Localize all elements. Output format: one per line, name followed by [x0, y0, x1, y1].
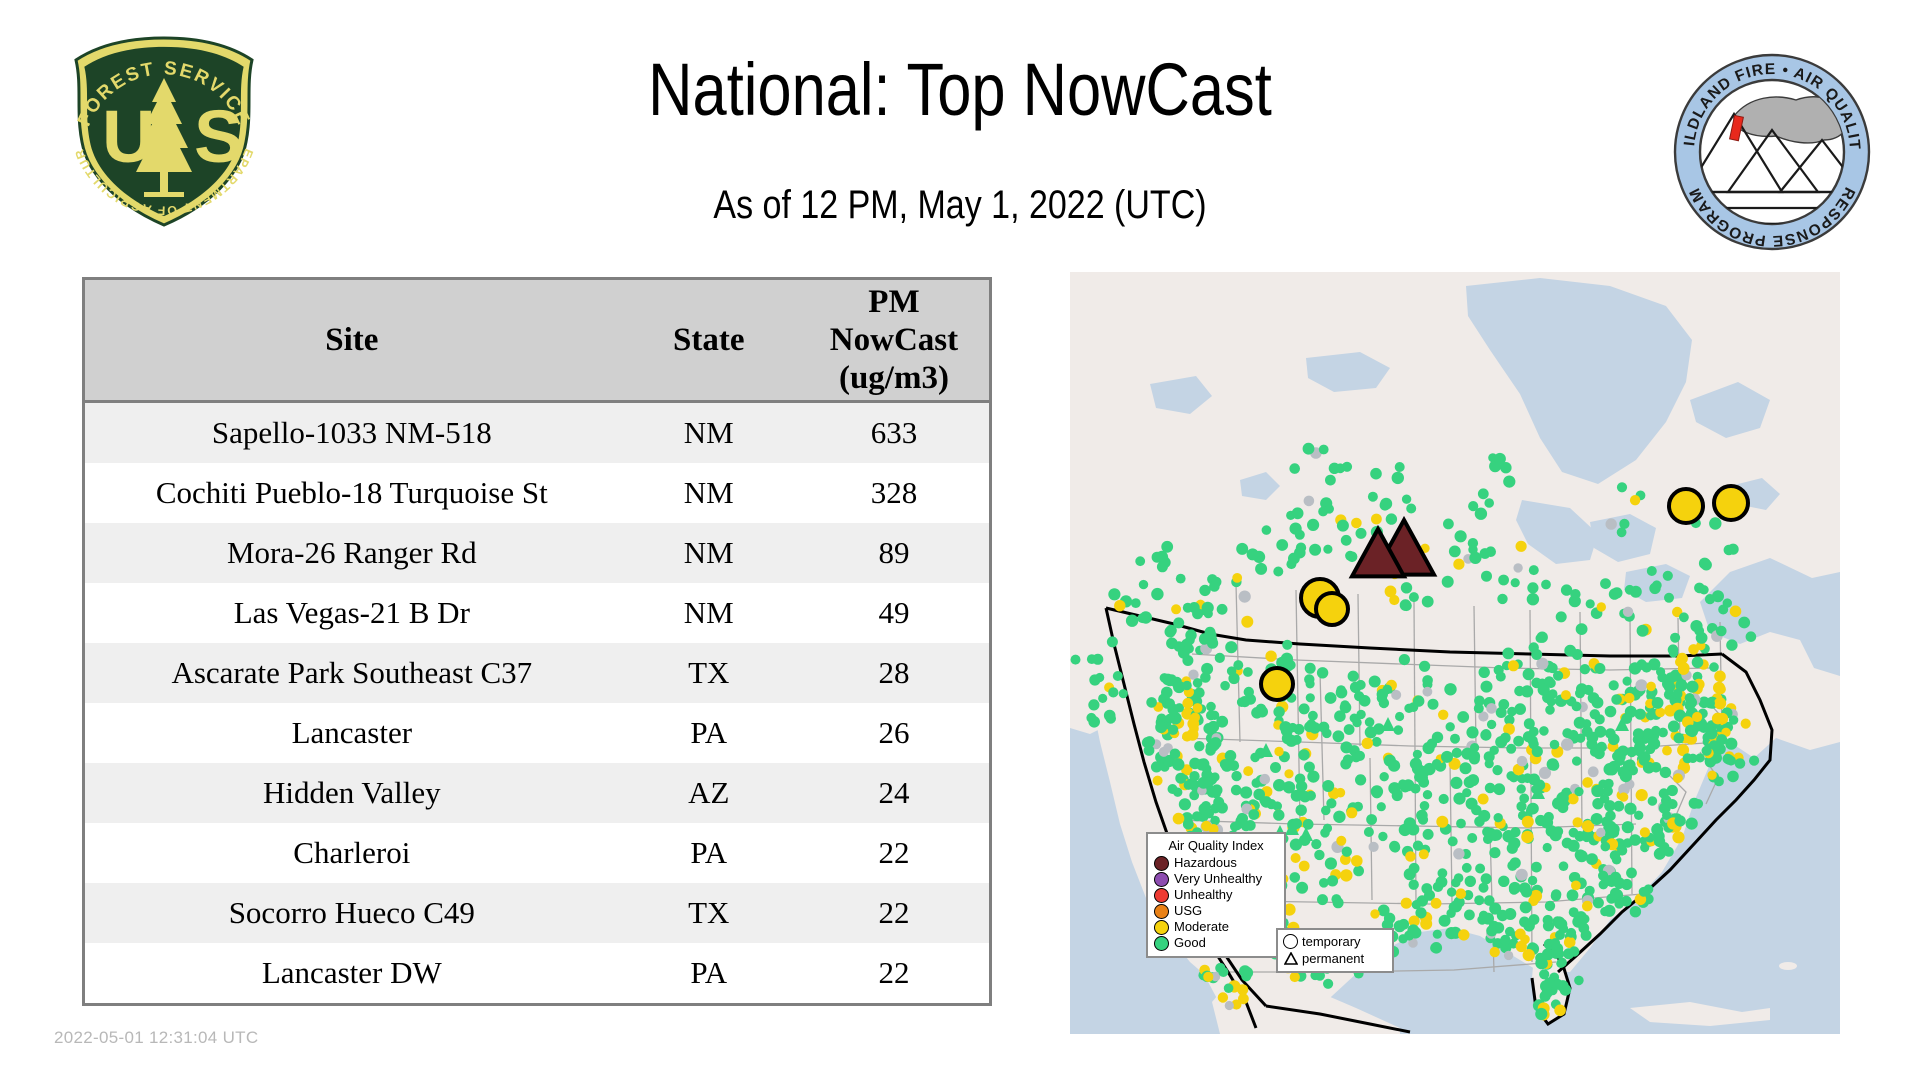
monitor-dot	[1647, 566, 1657, 576]
monitor-dot	[1582, 833, 1591, 842]
monitor-dot	[1325, 504, 1334, 513]
monitor-dot	[1356, 680, 1366, 690]
monitor-dot	[1498, 876, 1509, 887]
monitor-dot	[1619, 792, 1628, 801]
monitor-dot	[1462, 863, 1472, 873]
monitor-dot	[1591, 813, 1603, 825]
monitor-dot	[1478, 488, 1489, 499]
monitor-dot	[1371, 514, 1382, 525]
monitor-dot	[1604, 779, 1614, 789]
monitor-dot	[1554, 1005, 1566, 1017]
monitor-dot	[1333, 897, 1344, 908]
monitor-dot	[1356, 528, 1367, 539]
monitor-dot	[1453, 848, 1464, 859]
table-header-row: Site State PM NowCast (ug/m3)	[84, 279, 991, 402]
monitor-dot	[1438, 710, 1448, 720]
monitor-dot	[1423, 829, 1434, 840]
monitor-dot	[1516, 541, 1527, 552]
monitor-dot	[1325, 857, 1337, 869]
monitor-dot	[1423, 790, 1432, 799]
monitor-dot	[1523, 668, 1535, 680]
monitor-dot	[1372, 737, 1382, 747]
monitor-dot	[1513, 736, 1524, 747]
monitor-dot	[1482, 913, 1494, 925]
monitor-dot	[1595, 726, 1607, 738]
monitor-dot	[1730, 606, 1742, 618]
monitor-dot	[1613, 801, 1624, 812]
monitor-dot	[1398, 779, 1407, 788]
aqi-legend-row: Very Unhealthy	[1154, 871, 1278, 887]
monitor-dot	[1239, 965, 1251, 977]
monitor-dot	[1172, 758, 1184, 770]
monitor-dot	[1340, 741, 1352, 753]
monitor-dot	[1317, 667, 1328, 678]
monitor-dot	[1196, 759, 1208, 771]
monitor-dot	[1556, 919, 1567, 930]
monitor-dot	[1161, 541, 1173, 553]
monitor-dot	[1526, 806, 1535, 815]
monitor-dot	[1336, 788, 1346, 798]
monitor-dot	[1716, 684, 1726, 694]
monitor-dot	[1645, 744, 1655, 754]
monitor-dot	[1182, 681, 1192, 691]
monitor-dot	[1741, 719, 1751, 729]
monitor-dot	[1542, 987, 1553, 998]
monitor-dot	[1601, 816, 1612, 827]
monitor-dot	[1228, 760, 1239, 771]
monitor-dot	[1543, 843, 1552, 852]
monitor-dot	[1166, 625, 1177, 636]
cell-state: TX	[619, 643, 799, 703]
monitor-dot	[1561, 690, 1571, 700]
monitor-dot	[1385, 586, 1397, 598]
monitor-dot	[1569, 946, 1579, 956]
monitor-dot	[1450, 734, 1460, 744]
monitor-dot	[1344, 724, 1355, 735]
monitor-dot	[1450, 900, 1462, 912]
monitor-dot	[1255, 563, 1267, 575]
monitor-dot	[1131, 598, 1141, 608]
monitor-dot	[1155, 721, 1167, 733]
monitor-dot	[1585, 886, 1595, 896]
table-row: Sapello-1033 NM-518NM633	[84, 402, 991, 464]
monitor-dot	[1098, 694, 1107, 703]
monitor-dot	[1299, 703, 1310, 714]
monitor-dot	[1209, 581, 1220, 592]
monitor-dot	[1637, 625, 1649, 637]
highlighted-temporary-marker[interactable]	[1669, 489, 1703, 523]
monitor-dot	[1623, 838, 1633, 848]
monitor-dot	[1409, 863, 1420, 874]
monitor-dot	[1296, 781, 1307, 792]
cell-state: NM	[619, 463, 799, 523]
monitor-dot	[1544, 977, 1555, 988]
monitor-dot	[1342, 847, 1352, 857]
monitor-dot	[1183, 819, 1194, 830]
monitor-dot	[1580, 664, 1590, 674]
monitor-dot	[1337, 520, 1349, 532]
monitor-dot	[1326, 798, 1336, 808]
monitor-dot	[1478, 794, 1489, 805]
monitor-dot	[1241, 616, 1253, 628]
monitor-dot	[1406, 504, 1416, 514]
footer-timestamp: 2022-05-01 12:31:04 UTC	[54, 1028, 258, 1048]
cell-value: 28	[799, 643, 991, 703]
monitor-dot	[1668, 644, 1679, 655]
monitor-dot	[1558, 802, 1569, 813]
monitor-dot	[1380, 498, 1392, 510]
monitor-dot	[1625, 759, 1636, 770]
monitor-dot	[1325, 475, 1336, 486]
monitor-dot	[1323, 545, 1332, 554]
monitor-dot	[1527, 582, 1538, 593]
monitor-dot	[1306, 791, 1316, 801]
monitor-dot	[1290, 972, 1300, 982]
cell-state: PA	[619, 703, 799, 763]
monitor-dot	[1276, 539, 1288, 551]
monitor-dot	[1634, 746, 1644, 756]
cell-value: 22	[799, 823, 991, 883]
highlighted-temporary-marker[interactable]	[1261, 668, 1293, 700]
monitor-dot	[1567, 889, 1579, 901]
monitor-dot	[1265, 651, 1276, 662]
monitor-dot	[1600, 578, 1611, 589]
monitor-dot	[1441, 751, 1453, 763]
monitor-dot	[1198, 777, 1210, 789]
monitor-dot	[1409, 592, 1419, 602]
monitor-dot	[1514, 703, 1526, 715]
monitor-dot	[1521, 685, 1533, 697]
monitor-dot	[1620, 770, 1632, 782]
monitor-dot	[1088, 699, 1099, 710]
monitor-dot	[1323, 979, 1333, 989]
monitor-dot	[1347, 552, 1358, 563]
monitor-dot	[1714, 697, 1726, 709]
monitor-dot	[1667, 799, 1677, 809]
monitor-dot	[1517, 784, 1526, 793]
cell-value: 22	[799, 943, 991, 1005]
monitor-dot	[1692, 657, 1704, 669]
monitor-dot	[1232, 573, 1242, 583]
monitor-dot	[1114, 600, 1125, 611]
monitor-dot	[1351, 518, 1362, 529]
monitor-dot	[1622, 821, 1634, 833]
monitor-dot	[1453, 559, 1464, 570]
air-quality-map[interactable]: Air Quality Index HazardousVery Unhealth…	[1070, 272, 1840, 1034]
monitor-dot	[1203, 723, 1214, 734]
monitor-dot	[1686, 818, 1698, 830]
monitor-dot	[1368, 492, 1378, 502]
monitor-dot	[1490, 947, 1500, 957]
monitor-dot	[1189, 602, 1200, 613]
monitor-dot	[1569, 828, 1579, 838]
monitor-dot	[1107, 636, 1118, 647]
table-row: Cochiti Pueblo-18 Turquoise StNM328	[84, 463, 991, 523]
cell-state: NM	[619, 402, 799, 464]
monitor-dot	[1531, 649, 1542, 660]
monitor-dot	[1479, 667, 1490, 678]
monitor-dot	[1674, 815, 1685, 826]
monitor-dot	[1468, 501, 1478, 511]
monitor-dot	[1351, 855, 1363, 867]
monitor-dot	[1630, 906, 1641, 917]
monitor-dot	[1519, 917, 1530, 928]
monitor-dot	[1683, 753, 1693, 763]
monitor-dot	[1395, 462, 1405, 472]
table-row: Socorro Hueco C49TX22	[84, 883, 991, 943]
monitor-dot	[1448, 836, 1458, 846]
monitor-dot	[1193, 678, 1203, 688]
permanent-triangle-icon	[1283, 952, 1298, 965]
monitor-dot	[1522, 816, 1534, 828]
monitor-dot	[1508, 837, 1520, 849]
monitor-dot	[1582, 901, 1593, 912]
monitor-dot	[1668, 721, 1680, 733]
monitor-dot	[1586, 853, 1598, 865]
monitor-dot	[1516, 941, 1527, 952]
monitor-dot	[1635, 709, 1646, 720]
monitor-dot	[1206, 702, 1216, 712]
monitor-dot	[1694, 799, 1704, 809]
legend-row-temporary: temporary	[1283, 933, 1387, 950]
cell-value: 328	[799, 463, 991, 523]
monitor-dot	[1179, 798, 1191, 810]
monitor-dot	[1348, 671, 1359, 682]
cell-state: TX	[619, 883, 799, 943]
monitor-dot	[1359, 695, 1371, 707]
monitor-dot	[1445, 927, 1457, 939]
monitor-dot	[1152, 552, 1163, 563]
monitor-dot	[1597, 602, 1606, 611]
monitor-dot	[1346, 807, 1357, 818]
aqi-legend-label: Moderate	[1174, 920, 1229, 934]
table-row: Las Vegas-21 B DrNM49	[84, 583, 991, 643]
monitor-dot	[1484, 498, 1494, 508]
monitor-dot	[1583, 685, 1593, 695]
monitor-dot	[1709, 662, 1719, 672]
aqi-legend-title: Air Quality Index	[1154, 838, 1278, 853]
monitor-dot	[1450, 777, 1462, 789]
monitor-dot	[1187, 729, 1199, 741]
monitor-dot	[1500, 935, 1511, 946]
monitor-dot	[1384, 913, 1395, 924]
monitor-dot	[1401, 582, 1412, 593]
monitor-dot	[1478, 810, 1490, 822]
monitor-dot	[1370, 468, 1382, 480]
highlighted-temporary-marker[interactable]	[1316, 593, 1348, 625]
monitor-dot	[1187, 718, 1199, 730]
monitor-dot	[1273, 809, 1284, 820]
monitor-dot	[1173, 788, 1182, 797]
monitor-dot	[1352, 718, 1361, 727]
monitor-dot	[1201, 663, 1213, 675]
column-header-state: State	[619, 279, 799, 402]
monitor-dot	[1520, 901, 1532, 913]
top-nowcast-table: Site State PM NowCast (ug/m3) Sapello-10…	[82, 277, 992, 1006]
monitor-dot	[1498, 575, 1509, 586]
monitor-dot	[1400, 599, 1412, 611]
monitor-dot	[1643, 728, 1653, 738]
monitor-dot	[1151, 588, 1163, 600]
monitor-dot	[1206, 710, 1216, 720]
cell-site: Charleroi	[84, 823, 619, 883]
monitor-dot	[1674, 733, 1685, 744]
monitor-dot	[1495, 736, 1507, 748]
monitor-dot	[1087, 654, 1097, 664]
monitor-dot	[1481, 681, 1493, 693]
monitor-dot	[1231, 785, 1242, 796]
aqi-swatch-icon	[1154, 872, 1169, 887]
monitor-dot	[1442, 576, 1454, 588]
monitor-dot	[1481, 571, 1492, 582]
monitor-dot	[1566, 928, 1576, 938]
monitor-dot	[1572, 756, 1581, 765]
monitor-dot	[1486, 703, 1497, 714]
aqi-swatch-icon	[1154, 920, 1169, 935]
monitor-dot	[1548, 689, 1557, 698]
monitor-dot	[1218, 967, 1228, 977]
monitor-dot	[1500, 462, 1511, 473]
monitor-dot	[1356, 710, 1365, 719]
monitor-dot	[1225, 641, 1237, 653]
monitor-dot	[1370, 909, 1379, 918]
monitor-dot	[1431, 898, 1442, 909]
monitor-dot	[1456, 819, 1466, 829]
monitor-dot	[1119, 689, 1128, 698]
monitor-dot	[1432, 759, 1441, 768]
cell-value: 49	[799, 583, 991, 643]
monitor-dot	[1336, 836, 1346, 846]
monitor-dot	[1207, 786, 1219, 798]
aqi-swatch-icon	[1154, 904, 1169, 919]
monitor-dot	[1481, 873, 1492, 884]
aqi-legend-label: USG	[1174, 904, 1202, 918]
cell-value: 24	[799, 763, 991, 823]
monitor-dot	[1611, 694, 1622, 705]
monitor-dot	[1322, 780, 1334, 792]
monitor-dot	[1605, 706, 1617, 718]
monitor-dot	[1485, 783, 1496, 794]
monitor-dot	[1519, 794, 1529, 804]
cell-value: 633	[799, 402, 991, 464]
monitor-dot	[1629, 662, 1641, 674]
cell-site: Lancaster DW	[84, 943, 619, 1005]
monitor-dot	[1420, 801, 1430, 811]
monitor-dot	[1419, 849, 1429, 859]
monitor-dot	[1571, 881, 1581, 891]
monitor-dot	[1305, 663, 1316, 674]
monitor-dot	[1274, 747, 1283, 756]
highlighted-temporary-marker[interactable]	[1714, 486, 1748, 520]
monitor-dot	[1516, 869, 1528, 881]
monitor-dot	[1204, 809, 1214, 819]
monitor-dot	[1726, 639, 1737, 650]
monitor-dot	[1391, 690, 1401, 700]
monitor-dot	[1521, 831, 1533, 843]
monitor-dot	[1407, 924, 1419, 936]
monitor-dot	[1218, 992, 1228, 1002]
monitor-dot	[1398, 934, 1407, 943]
monitor-dot	[1071, 655, 1081, 665]
monitor-dot	[1233, 821, 1242, 830]
monitor-dot	[1640, 827, 1650, 837]
monitor-dot	[1340, 702, 1352, 714]
monitor-dot	[1329, 463, 1340, 474]
monitor-dot	[1194, 741, 1204, 751]
monitor-dot	[1714, 671, 1726, 683]
monitor-dot	[1712, 590, 1724, 602]
monitor-dot	[1210, 737, 1222, 749]
monitor-dot	[1705, 698, 1715, 708]
cell-site: Cochiti Pueblo-18 Turquoise St	[84, 463, 619, 523]
monitor-dot	[1503, 476, 1515, 488]
monitor-dot	[1606, 518, 1617, 529]
monitor-dot	[1289, 463, 1300, 474]
monitor-dot	[1648, 796, 1658, 806]
monitor-dot	[1333, 730, 1345, 742]
monitor-dot	[1455, 530, 1467, 542]
monitor-dot	[1506, 744, 1516, 754]
monitor-dot	[1474, 703, 1484, 713]
monitor-dot	[1692, 712, 1702, 722]
monitor-dot	[1651, 824, 1663, 836]
monitor-dot	[1494, 813, 1503, 822]
monitor-dot	[1746, 631, 1757, 642]
monitor-dot	[1166, 638, 1178, 650]
monitor-dot	[1727, 771, 1739, 783]
monitor-dot	[1633, 728, 1644, 739]
monitor-dot	[1679, 612, 1689, 622]
monitor-dot	[1596, 742, 1607, 753]
monitor-dot	[1561, 738, 1573, 750]
monitor-dot	[1217, 604, 1228, 615]
monitor-dot	[1723, 598, 1732, 607]
monitor-dot	[1709, 517, 1721, 529]
monitor-dot	[1253, 789, 1265, 801]
cell-state: PA	[619, 943, 799, 1005]
monitor-dot	[1568, 840, 1580, 852]
monitor-dot	[1619, 519, 1629, 529]
cell-value: 89	[799, 523, 991, 583]
monitor-dot	[1664, 847, 1674, 857]
monitor-dot	[1559, 861, 1569, 871]
monitor-dot	[1649, 583, 1660, 594]
monitor-dot	[1419, 661, 1430, 672]
monitor-dot	[1582, 726, 1593, 737]
monitor-dot	[1474, 895, 1484, 905]
cell-state: PA	[619, 823, 799, 883]
monitor-dot	[1282, 640, 1292, 650]
monitor-dot	[1215, 653, 1225, 663]
monitor-dot	[1487, 720, 1496, 729]
monitor-dot	[1502, 648, 1514, 660]
monitor-dot	[1521, 886, 1532, 897]
monitor-dot	[1365, 717, 1375, 727]
monitor-dot	[1623, 677, 1632, 686]
monitor-dot	[1735, 758, 1746, 769]
cell-site: Ascarate Park Southeast C37	[84, 643, 619, 703]
monitor-dot	[1464, 910, 1475, 921]
monitor-dot	[1466, 726, 1478, 738]
monitor-dot	[1553, 671, 1563, 681]
monitor-dot	[1284, 769, 1293, 778]
monitor-dot	[1409, 880, 1419, 890]
monitor-dot	[1529, 739, 1539, 749]
monitor-dot	[1535, 957, 1547, 969]
monitor-dot	[1095, 673, 1104, 682]
monitor-dot	[1588, 766, 1599, 777]
monitor-dot	[1108, 588, 1120, 600]
